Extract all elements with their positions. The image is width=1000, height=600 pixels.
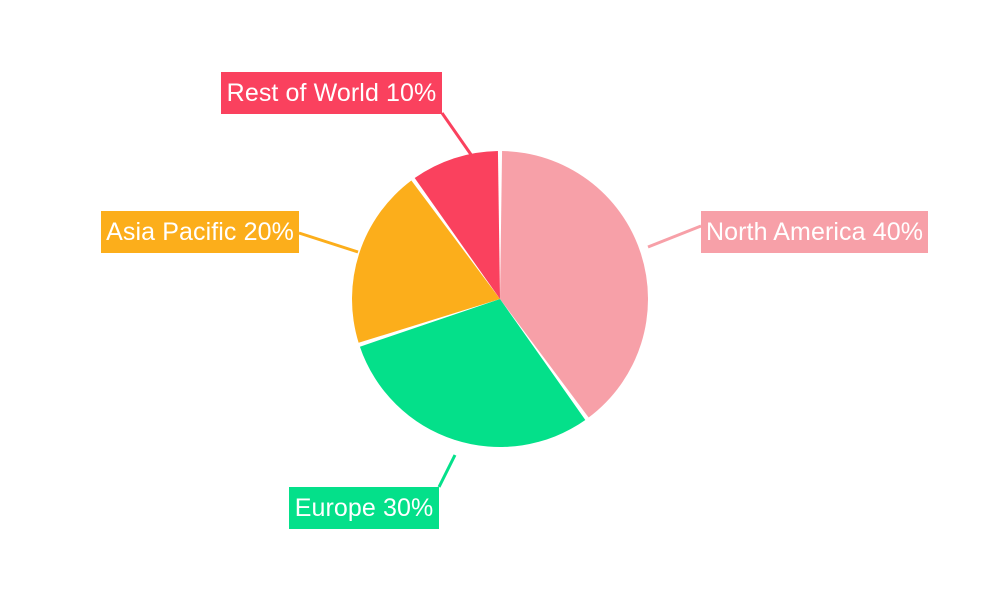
- leader-line: [299, 233, 358, 252]
- pie-slices: [352, 151, 648, 447]
- slice-label-asia-pacific[interactable]: Asia Pacific 20%: [101, 211, 299, 253]
- slice-label-europe[interactable]: Europe 30%: [289, 487, 439, 529]
- leader-line: [439, 455, 455, 487]
- pie-chart-canvas: [0, 0, 1000, 600]
- leader-line: [442, 113, 472, 156]
- slice-label-north-america[interactable]: North America 40%: [701, 211, 928, 253]
- leader-line: [648, 226, 701, 247]
- pie-chart-figure: North America 40%Europe 30%Asia Pacific …: [0, 0, 1000, 600]
- slice-label-rest-of-world[interactable]: Rest of World 10%: [221, 72, 442, 114]
